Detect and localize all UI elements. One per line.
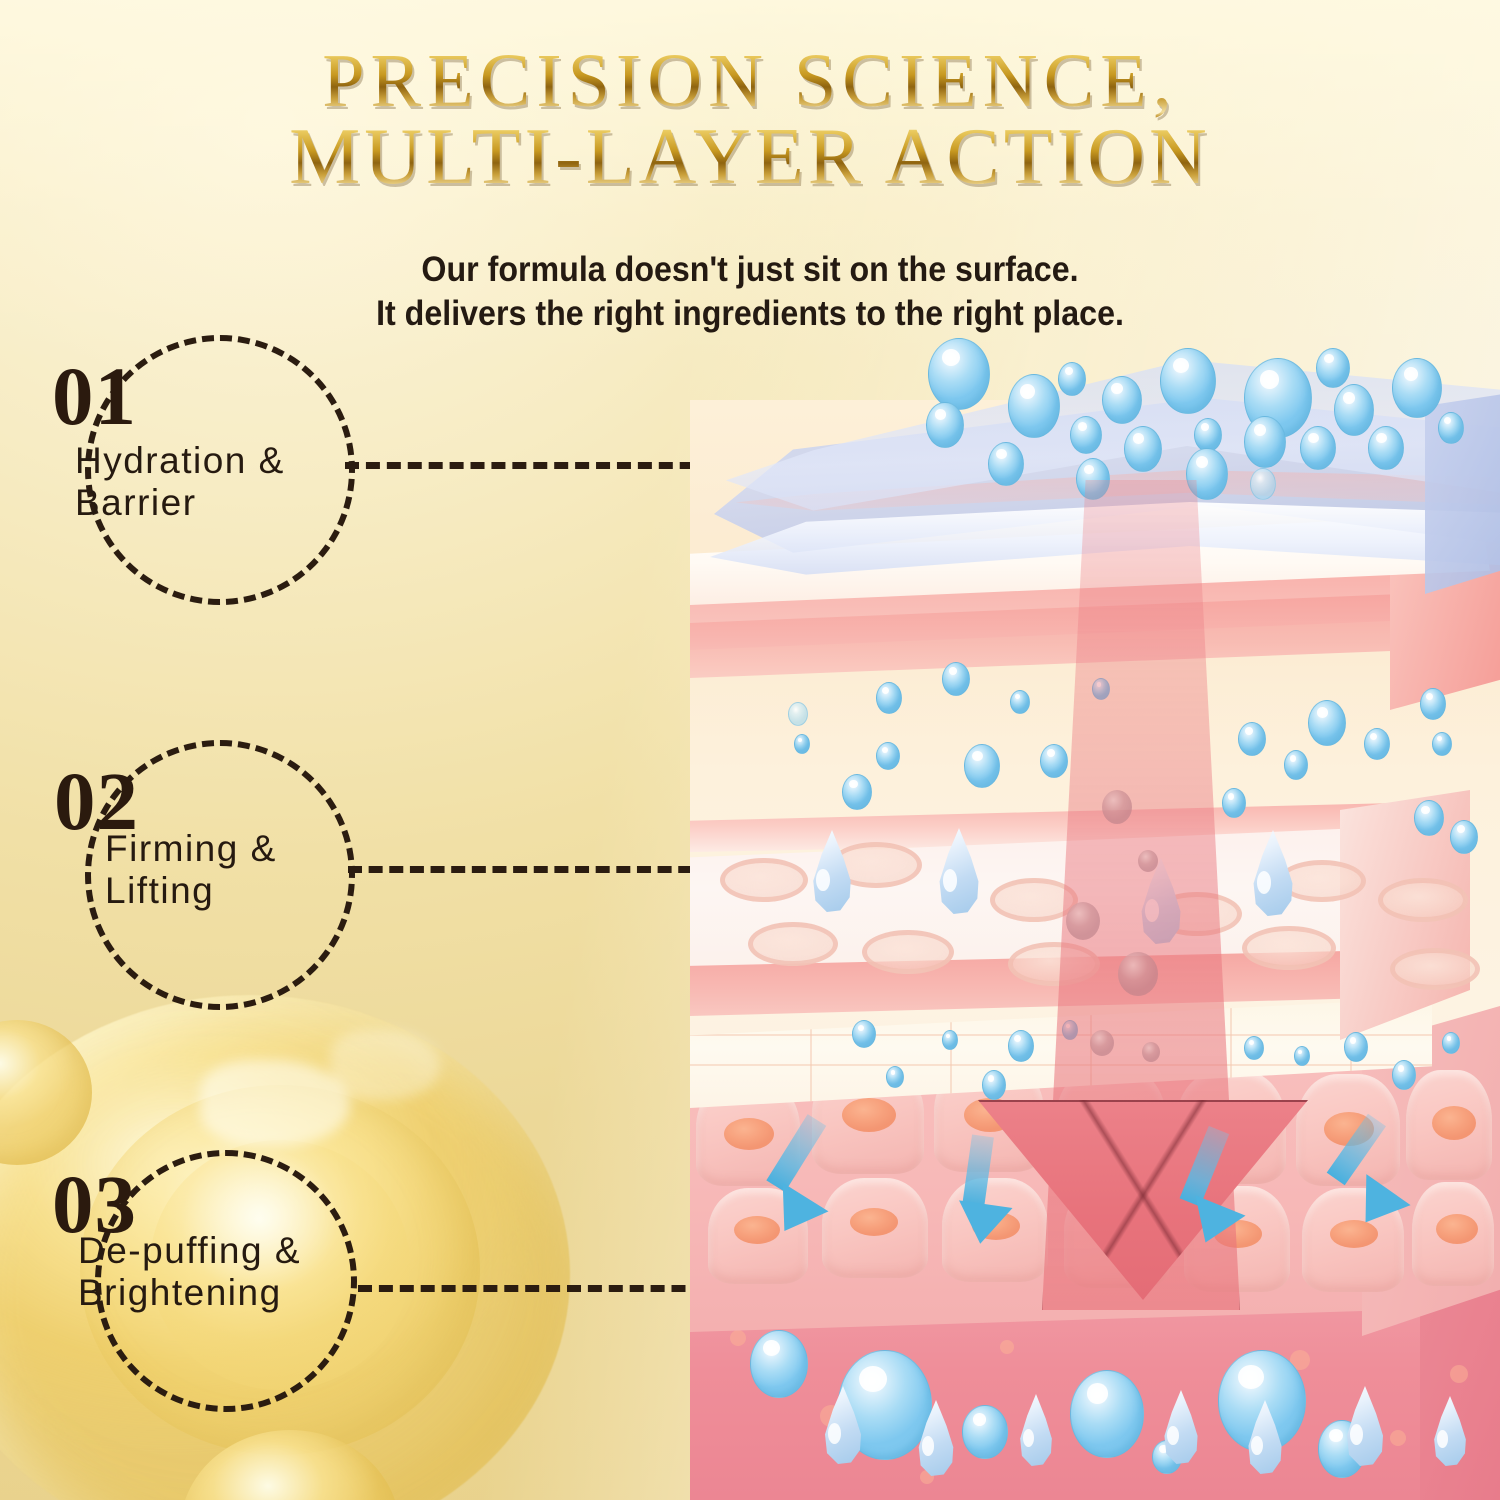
infographic-canvas: PRECISION SCIENCE, MULTI-LAYER ACTION Ou… — [0, 0, 1500, 1500]
step-01-number: 01 — [52, 355, 137, 438]
epidermis-bubble — [794, 734, 810, 754]
dermis-speck — [730, 1330, 746, 1346]
surface-bubble — [928, 338, 990, 410]
epidermis-bubble — [1432, 732, 1452, 756]
surface-bubble — [1244, 416, 1286, 468]
epidermis-bubble — [876, 682, 902, 714]
surface-bubble — [1392, 358, 1442, 418]
dermis-scatter-bubble — [1442, 1032, 1460, 1054]
epidermis-bubble — [1222, 788, 1246, 818]
epidermis-bubble — [1040, 744, 1068, 778]
step-02-label: Firming & Lifting — [105, 828, 277, 912]
step-02-label-line-2: Lifting — [105, 870, 277, 912]
dermis-scatter-bubble — [852, 1020, 876, 1048]
skin-cross-section-diagram — [690, 330, 1500, 1500]
epidermis-bubble — [1364, 728, 1390, 760]
subtitle-line-1: Our formula doesn't just sit on the surf… — [60, 248, 1440, 292]
step-03-label-line-1: De-puffing & — [78, 1230, 301, 1271]
title-line-1: PRECISION SCIENCE, — [0, 44, 1500, 118]
step-01-label-line-1: Hydration & — [75, 440, 285, 481]
surface-bubble — [1438, 412, 1464, 444]
epidermis-bubble — [1010, 690, 1030, 714]
cell-nucleus — [1436, 1214, 1478, 1244]
epidermis-bubble — [942, 662, 970, 696]
epidermis-bubble — [1450, 820, 1478, 854]
epidermis-bubble — [1420, 688, 1446, 720]
collagen-oval — [1242, 926, 1336, 970]
dermis-scatter-bubble — [1344, 1032, 1368, 1062]
collagen-oval — [862, 930, 954, 974]
surface-bubble — [988, 442, 1024, 486]
page-title: PRECISION SCIENCE, MULTI-LAYER ACTION — [0, 44, 1500, 194]
surface-bubble — [1160, 348, 1216, 414]
epidermis-bubble — [1284, 750, 1308, 780]
dermis-scatter-bubble — [1294, 1046, 1310, 1066]
dermis-scatter-bubble — [982, 1070, 1006, 1100]
dermis-scatter-bubble — [886, 1066, 904, 1088]
surface-bubble — [1300, 426, 1336, 470]
surface-bubble — [1194, 418, 1222, 452]
surface-bubble-faded — [1250, 468, 1276, 500]
surface-bubble — [926, 402, 964, 448]
epidermis-bubble — [1414, 800, 1444, 836]
epidermis-bubble — [1238, 722, 1266, 756]
shaft-particle — [1118, 952, 1158, 996]
dermis-speck — [1390, 1430, 1406, 1446]
surface-bubble — [1334, 384, 1374, 436]
surface-bubble — [1102, 376, 1142, 424]
collagen-oval — [748, 922, 838, 966]
shaft-particle — [1138, 850, 1158, 872]
surface-bubble — [1058, 362, 1086, 396]
epidermis-bubble — [842, 774, 872, 810]
collagen-oval — [1390, 948, 1480, 990]
dermis-speck — [1000, 1340, 1014, 1354]
shaft-particle — [1066, 902, 1100, 940]
step-01-label-line-2: Barrier — [75, 482, 285, 524]
step-02-label-line-1: Firming & — [105, 828, 277, 869]
oil-highlight-1 — [200, 1060, 350, 1146]
cell-nucleus — [1432, 1106, 1476, 1140]
dermis-scatter-bubble — [942, 1030, 958, 1050]
shaft-particle — [1090, 1030, 1114, 1056]
page-subtitle: Our formula doesn't just sit on the surf… — [60, 248, 1440, 336]
cell-nucleus — [850, 1208, 898, 1236]
arrow-head — [953, 1200, 1012, 1247]
oil-highlight-2 — [330, 1030, 440, 1100]
shaft-particle — [1102, 790, 1132, 824]
epidermis-bubble — [1308, 700, 1346, 746]
step-01-label: Hydration & Barrier — [75, 440, 285, 524]
epidermis-bubble — [876, 742, 900, 770]
collagen-oval — [720, 858, 808, 902]
title-line-2: MULTI-LAYER ACTION — [0, 120, 1500, 194]
deep-dermis-side-face — [1420, 1285, 1500, 1500]
step-03-label-line-2: Brightening — [78, 1272, 301, 1314]
dermis-speck — [1450, 1365, 1468, 1383]
dermis-scatter-bubble — [1392, 1060, 1416, 1090]
surface-bubble — [1070, 416, 1102, 454]
step-03-label: De-puffing & Brightening — [78, 1230, 301, 1314]
cell-nucleus — [842, 1098, 896, 1132]
dermis-scatter-bubble — [1244, 1036, 1264, 1060]
dermis-bubble — [962, 1405, 1008, 1459]
surface-bubble — [1368, 426, 1404, 470]
epidermis-bubble — [788, 702, 808, 726]
surface-bubble — [1124, 426, 1162, 472]
epidermis-bubble — [964, 744, 1000, 788]
dermis-bubble — [1070, 1370, 1144, 1458]
cell-nucleus — [724, 1118, 774, 1150]
shaft-particle — [1142, 1042, 1160, 1062]
dermis-bubble — [750, 1330, 808, 1398]
surface-bubble — [1008, 374, 1060, 438]
dermis-scatter-bubble — [1008, 1030, 1034, 1062]
surface-bubble — [1316, 348, 1350, 388]
collagen-oval — [1378, 878, 1468, 922]
